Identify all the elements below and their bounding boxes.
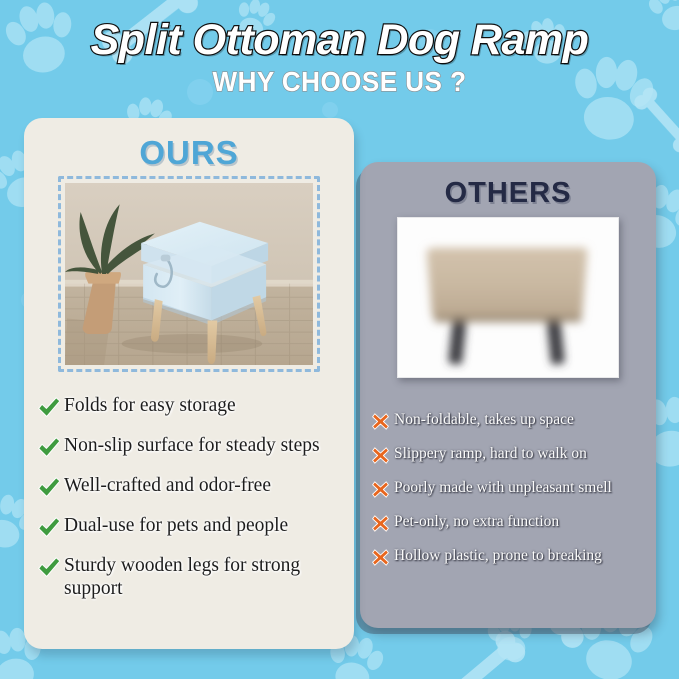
ours-photo-frame — [58, 176, 320, 372]
list-item-label: Sturdy wooden legs for strong support — [64, 554, 340, 600]
list-item-label: Well-crafted and odor-free — [64, 474, 271, 497]
cross-icon — [370, 411, 391, 432]
list-item: Non-slip surface for steady steps — [36, 434, 340, 461]
list-item: Slippery ramp, hard to walk on — [370, 444, 648, 466]
ours-ottoman-illustration — [65, 183, 313, 365]
header: Split Ottoman Dog Ramp WHY CHOOSE US ? — [0, 0, 679, 98]
list-item-label: Hollow plastic, prone to breaking — [394, 546, 602, 565]
ours-product-photo — [65, 183, 313, 365]
check-icon — [36, 515, 62, 541]
ours-heading: OURS — [24, 118, 354, 172]
list-item-label: Non-slip surface for steady steps — [64, 434, 320, 457]
others-heading: OTHERS — [360, 162, 656, 210]
check-icon — [36, 475, 62, 501]
list-item: Non-foldable, takes up space — [370, 410, 648, 432]
page-subtitle: WHY CHOOSE US ? — [24, 64, 655, 98]
others-product-photo — [397, 217, 619, 378]
list-item-label: Non-foldable, takes up space — [394, 410, 574, 429]
cross-icon — [370, 479, 391, 500]
list-item: Sturdy wooden legs for strong support — [36, 554, 340, 600]
list-item: Folds for easy storage — [36, 394, 340, 421]
list-item: Poorly made with unpleasant smell — [370, 478, 648, 500]
list-item-label: Slippery ramp, hard to walk on — [394, 444, 587, 463]
list-item: Dual-use for pets and people — [36, 514, 340, 541]
ottoman — [122, 222, 268, 364]
cross-icon — [370, 513, 391, 534]
list-item: Hollow plastic, prone to breaking — [370, 546, 648, 568]
others-ottoman-illustration — [398, 218, 618, 377]
check-icon — [36, 435, 62, 461]
cross-icon — [370, 547, 391, 568]
ours-list: Folds for easy storage Non-slip surface … — [24, 394, 354, 613]
others-panel: OTHERS — [360, 162, 656, 628]
infographic-canvas: Split Ottoman Dog Ramp WHY CHOOSE US ? O… — [0, 0, 679, 679]
check-icon — [36, 395, 62, 421]
list-item-label: Folds for easy storage — [64, 394, 236, 417]
check-icon — [36, 555, 62, 581]
list-item: Pet-only, no extra function — [370, 512, 648, 534]
others-list: Non-foldable, takes up space Slippery ra… — [360, 410, 656, 580]
page-title: Split Ottoman Dog Ramp — [0, 0, 679, 64]
cross-icon — [370, 445, 391, 466]
ours-panel: OURS — [24, 118, 354, 649]
list-item-label: Dual-use for pets and people — [64, 514, 288, 537]
list-item-label: Poorly made with unpleasant smell — [394, 478, 612, 497]
list-item: Well-crafted and odor-free — [36, 474, 340, 501]
list-item-label: Pet-only, no extra function — [394, 512, 559, 531]
